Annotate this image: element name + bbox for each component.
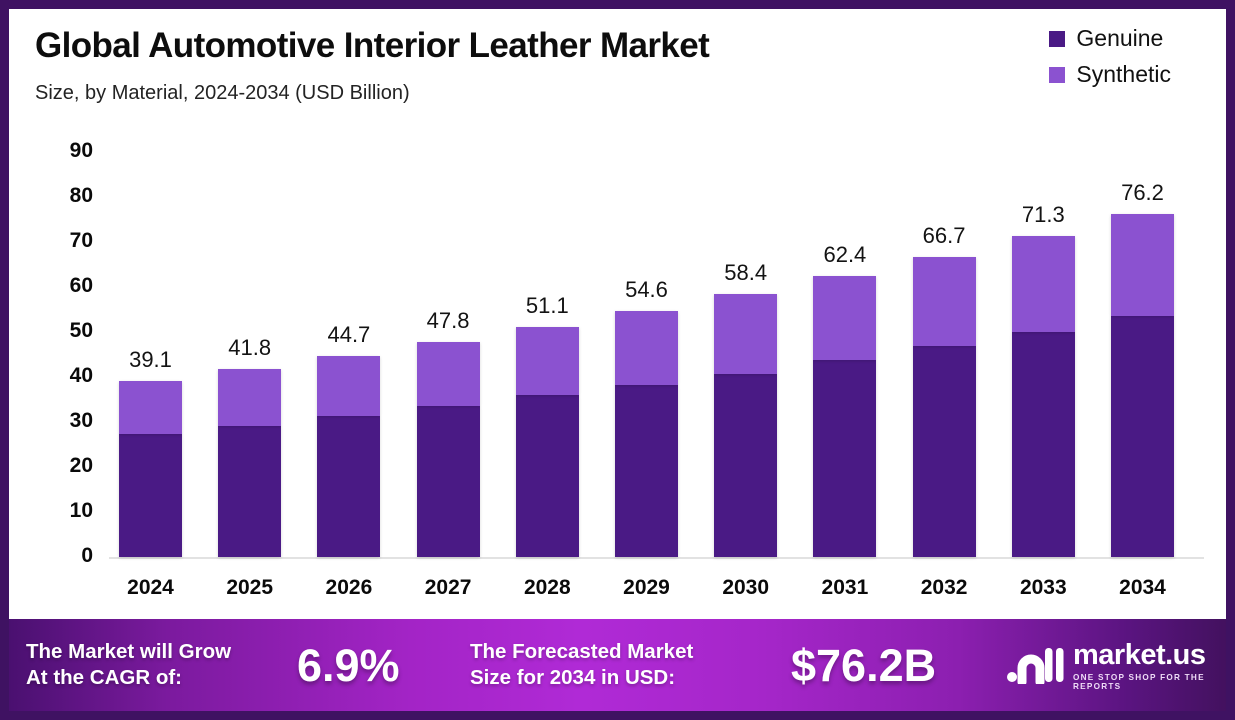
stacked-bar[interactable] [615,505,678,557]
bar-group-2028: 51.12028 [516,9,579,609]
bar-segment-genuine[interactable] [119,434,182,557]
forecast-label: The Forecasted Market Size for 2034 in U… [470,639,693,690]
bar-segment-genuine[interactable] [516,395,579,557]
bar-group-2032: 66.72032 [913,9,976,609]
bar-group-2034: 76.22034 [1111,9,1174,609]
bar-segment-synthetic[interactable] [119,381,182,434]
footer-banner: The Market will Grow At the CAGR of: 6.9… [9,619,1226,711]
forecast-value: $76.2B [791,640,936,692]
stacked-bar[interactable] [119,505,182,557]
bar-total-label: 76.2 [1073,180,1213,206]
y-axis-tick-label: 70 [33,229,93,253]
infographic-root: Global Automotive Interior Leather Marke… [0,0,1235,720]
bar-segment-synthetic[interactable] [714,294,777,374]
stacked-bar[interactable] [218,505,281,557]
y-axis-tick-label: 60 [33,274,93,298]
bar-segment-genuine[interactable] [615,385,678,557]
y-axis-tick-label: 20 [33,454,93,478]
logo-wordmark: market.us [1073,641,1226,670]
bar-segment-genuine[interactable] [714,374,777,557]
bar-segment-genuine[interactable] [813,360,876,557]
bar-segment-synthetic[interactable] [218,369,281,426]
cagr-value: 6.9% [297,640,400,692]
stacked-bar[interactable] [1012,505,1075,557]
bar-segment-genuine[interactable] [317,416,380,557]
y-axis-tick-label: 30 [33,409,93,433]
bar-segment-synthetic[interactable] [615,311,678,384]
x-axis-tick-label-2034: 2034 [1073,576,1213,600]
y-axis-tick-label: 0 [33,544,93,568]
bar-group-2027: 47.82027 [417,9,480,609]
y-axis-tick-label: 90 [33,139,93,163]
stacked-bar[interactable] [714,505,777,557]
stacked-bar[interactable] [913,505,976,557]
chart-plot-area: 0102030405060708090 39.1202441.8202544.7… [9,9,1226,609]
bar-group-2024: 39.12024 [119,9,182,609]
bar-group-2029: 54.62029 [615,9,678,609]
bar-group-2031: 62.42031 [813,9,876,609]
bar-segment-genuine[interactable] [218,426,281,557]
stacked-bar[interactable] [317,505,380,557]
y-axis-tick-label: 10 [33,499,93,523]
stacked-bar[interactable] [813,505,876,557]
bar-segment-synthetic[interactable] [516,327,579,395]
y-axis-tick-label: 50 [33,319,93,343]
bar-segment-synthetic[interactable] [317,356,380,416]
logo-text: market.us ONE STOP SHOP FOR THE REPORTS [1073,641,1226,691]
bar-segment-genuine[interactable] [417,406,480,557]
bar-group-2026: 44.72026 [317,9,380,609]
bar-segment-synthetic[interactable] [1012,236,1075,331]
bar-segment-genuine[interactable] [1111,316,1174,557]
bar-segment-synthetic[interactable] [417,342,480,406]
bar-segment-synthetic[interactable] [1111,214,1174,316]
bar-segment-synthetic[interactable] [813,276,876,360]
cagr-label: The Market will Grow At the CAGR of: [26,639,231,690]
logo-tagline: ONE STOP SHOP FOR THE REPORTS [1073,673,1226,691]
bar-chart-logo-icon [1006,644,1064,689]
market-us-logo: market.us ONE STOP SHOP FOR THE REPORTS [1006,641,1226,691]
bar-group-2030: 58.42030 [714,9,777,609]
bar-segment-genuine[interactable] [1012,332,1075,557]
bar-segment-synthetic[interactable] [913,257,976,346]
stacked-bar[interactable] [516,505,579,557]
bar-segment-genuine[interactable] [913,346,976,557]
bar-group-2025: 41.82025 [218,9,281,609]
stacked-bar[interactable] [417,505,480,557]
y-axis-tick-label: 80 [33,184,93,208]
stacked-bar[interactable] [1111,505,1174,557]
bar-group-2033: 71.32033 [1012,9,1075,609]
